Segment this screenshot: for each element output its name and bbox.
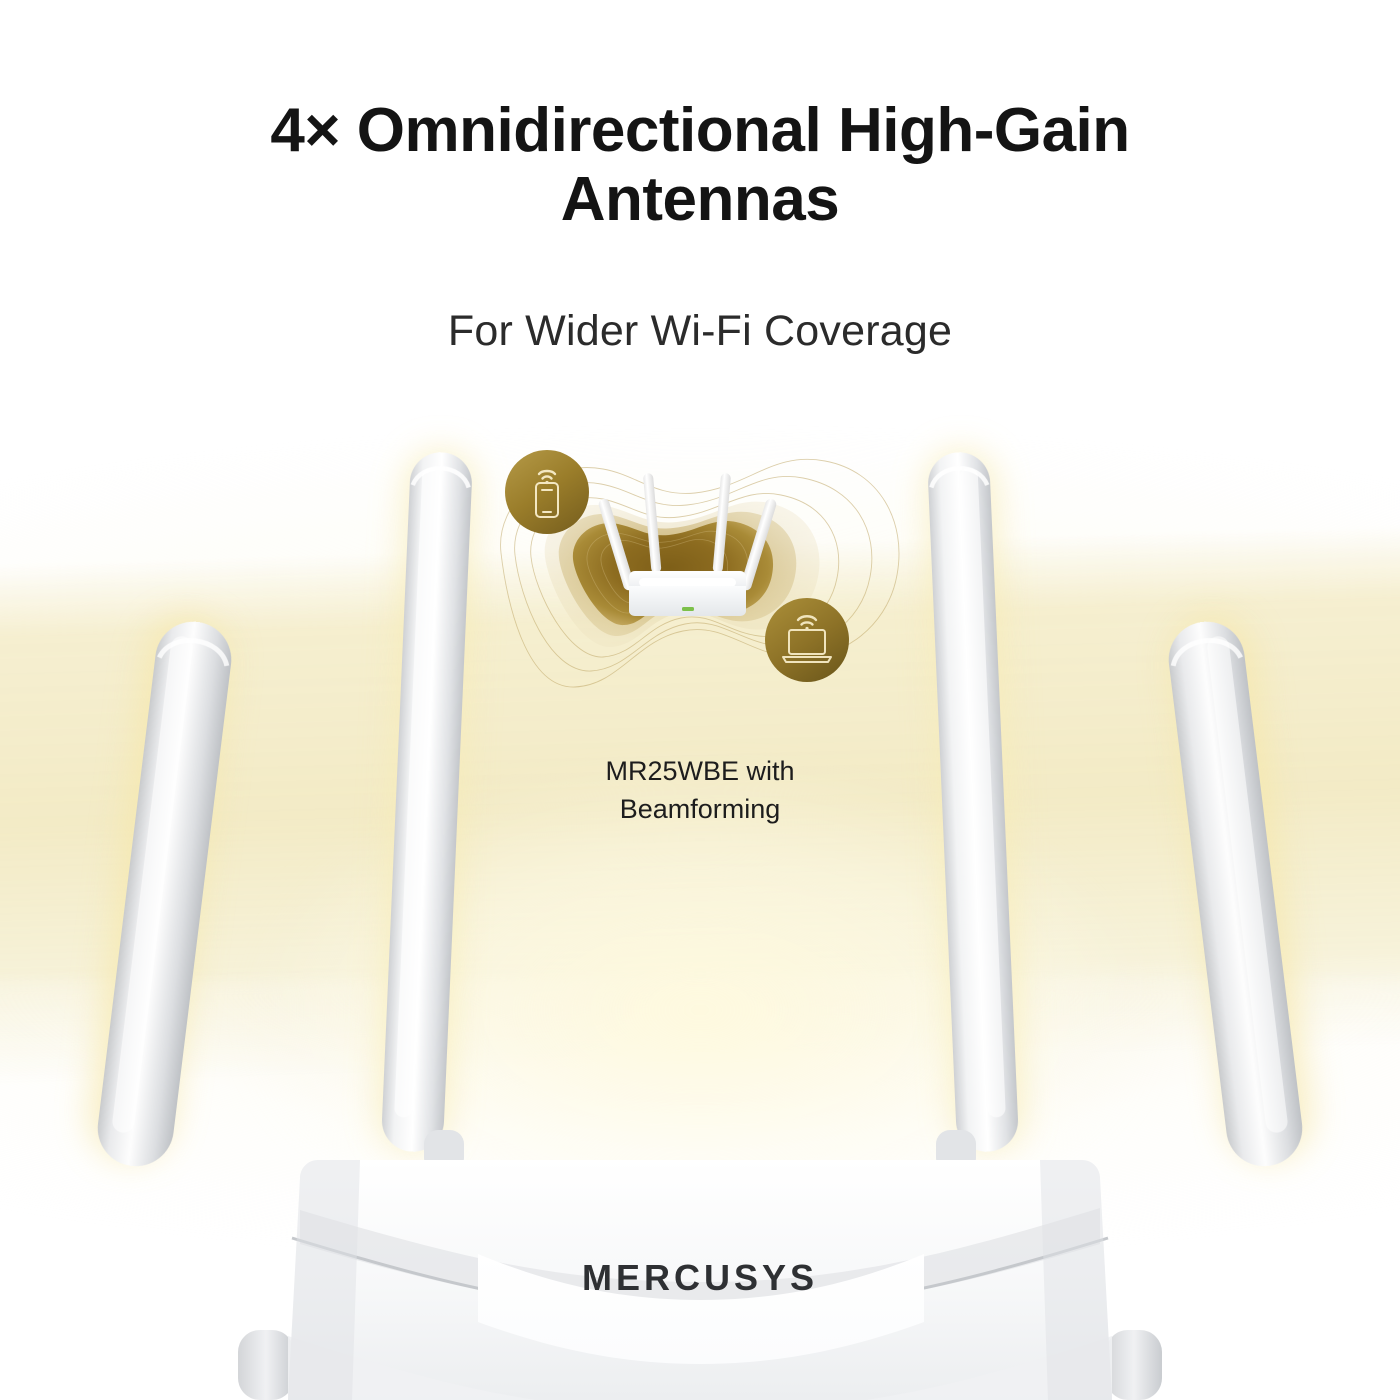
hero-antenna-4 (1164, 617, 1306, 1170)
page-subtitle: For Wider Wi-Fi Coverage (0, 307, 1400, 356)
caption-line-2: Beamforming (0, 790, 1400, 828)
router-right-shade (1040, 1160, 1112, 1400)
caption-line-1: MR25WBE with (0, 752, 1400, 790)
router-left-shade (288, 1160, 360, 1400)
hero-router-body: MERCUSYS (288, 1160, 1112, 1400)
brand-logo: MERCUSYS (582, 1257, 818, 1298)
headline-line-1: 4× Omnidirectional High-Gain (270, 96, 1129, 165)
page-title: 4× Omnidirectional High-Gain Antennas (0, 96, 1400, 235)
hero-antenna-1 (93, 617, 235, 1170)
headline-line-2: Antennas (0, 165, 1400, 234)
diagram-caption: MR25WBE with Beamforming (0, 752, 1400, 829)
